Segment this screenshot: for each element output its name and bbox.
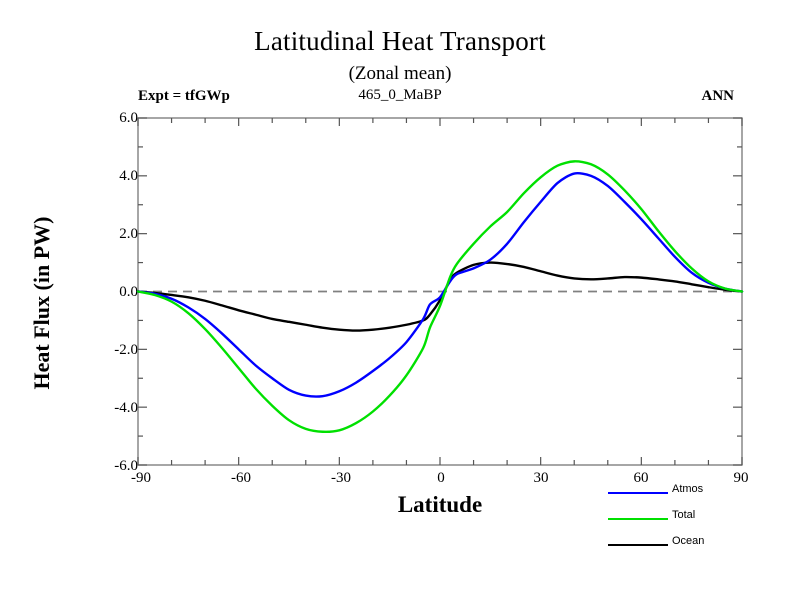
legend-label-ocean: Ocean (672, 535, 704, 547)
data-series (138, 161, 742, 431)
chart-legend: Atmos Total Ocean (608, 482, 788, 560)
legend-item-total: Total (608, 508, 788, 534)
legend-swatch-ocean (608, 544, 668, 546)
legend-item-atmos: Atmos (608, 482, 788, 508)
legend-label-atmos: Atmos (672, 483, 703, 495)
legend-label-total: Total (672, 509, 695, 521)
chart-figure: Latitudinal Heat Transport (Zonal mean) … (0, 0, 800, 600)
legend-swatch-total (608, 518, 668, 520)
legend-swatch-atmos (608, 492, 668, 494)
legend-item-ocean: Ocean (608, 534, 788, 560)
